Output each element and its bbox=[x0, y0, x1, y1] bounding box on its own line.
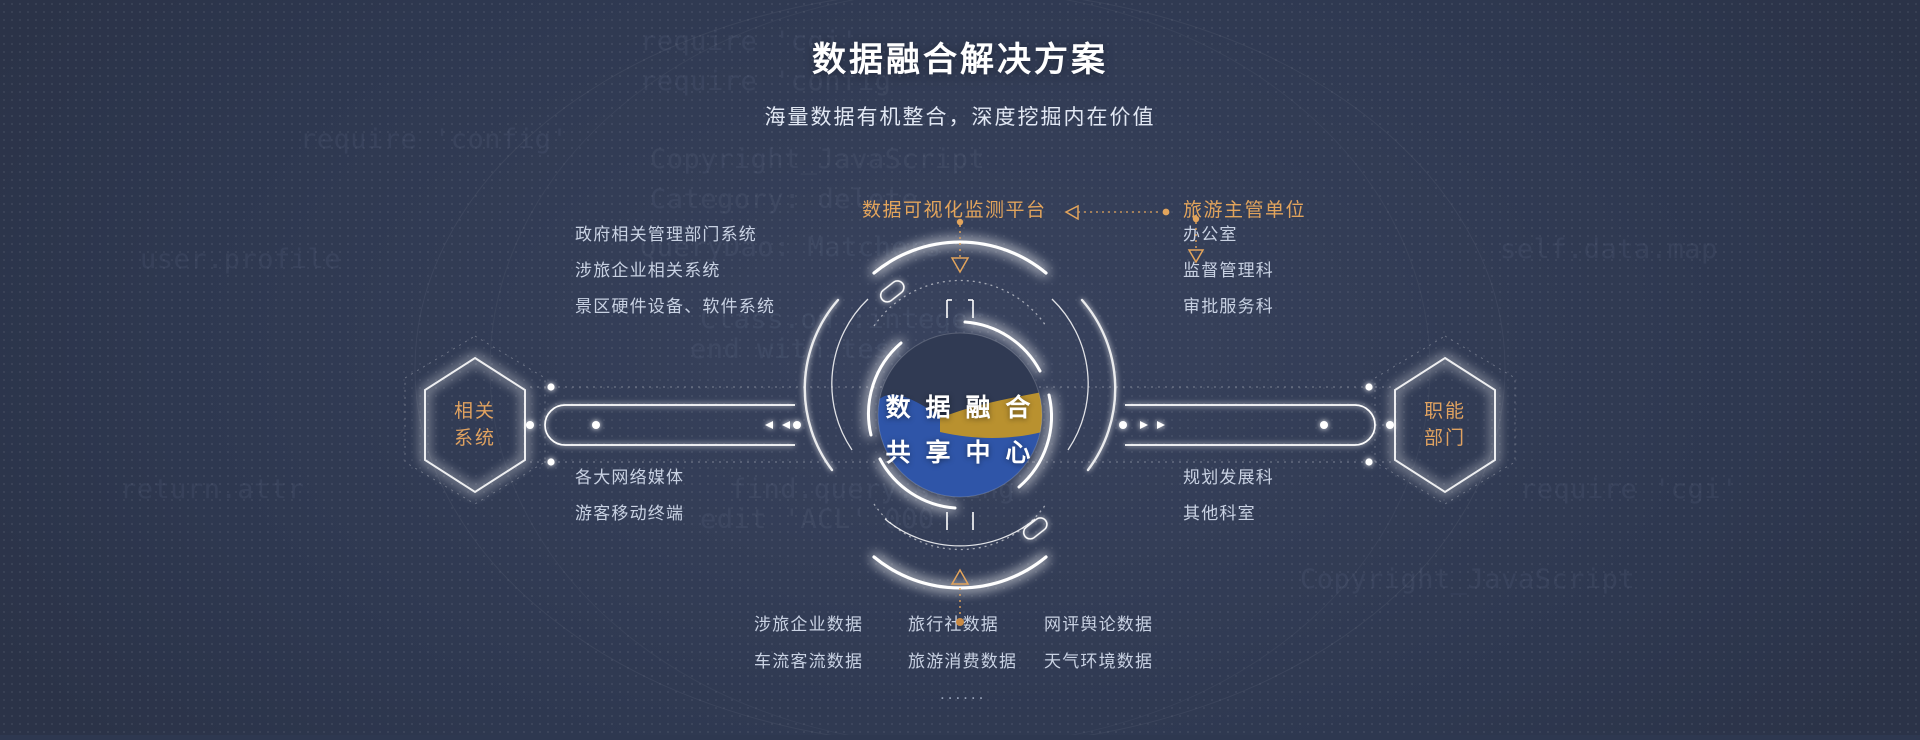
core-label: 数 据 融 合 共 享 中 心 bbox=[810, 388, 1110, 469]
core-label-line2: 共 享 中 心 bbox=[810, 433, 1110, 469]
arc-marker-chip-2 bbox=[1021, 515, 1049, 541]
left-hexagon[interactable] bbox=[405, 336, 545, 504]
core-label-line1: 数 据 融 合 bbox=[810, 388, 1110, 424]
top-right-connector-line bbox=[1189, 216, 1203, 262]
header: 数据融合解决方案 海量数据有机整合，深度挖掘内在价值 bbox=[0, 32, 1920, 131]
top-connector-line bbox=[952, 219, 968, 272]
page-subtitle: 海量数据有机整合，深度挖掘内在价值 bbox=[0, 101, 1920, 131]
page-title: 数据融合解决方案 bbox=[0, 32, 1920, 81]
right-hexagon[interactable] bbox=[1375, 336, 1515, 504]
arc-marker-chip bbox=[878, 278, 906, 304]
bottom-connector-line bbox=[952, 570, 968, 626]
core-bottom-bracket bbox=[947, 512, 973, 530]
top-horizontal-connector bbox=[1066, 206, 1169, 219]
core-top-bracket bbox=[947, 300, 973, 318]
